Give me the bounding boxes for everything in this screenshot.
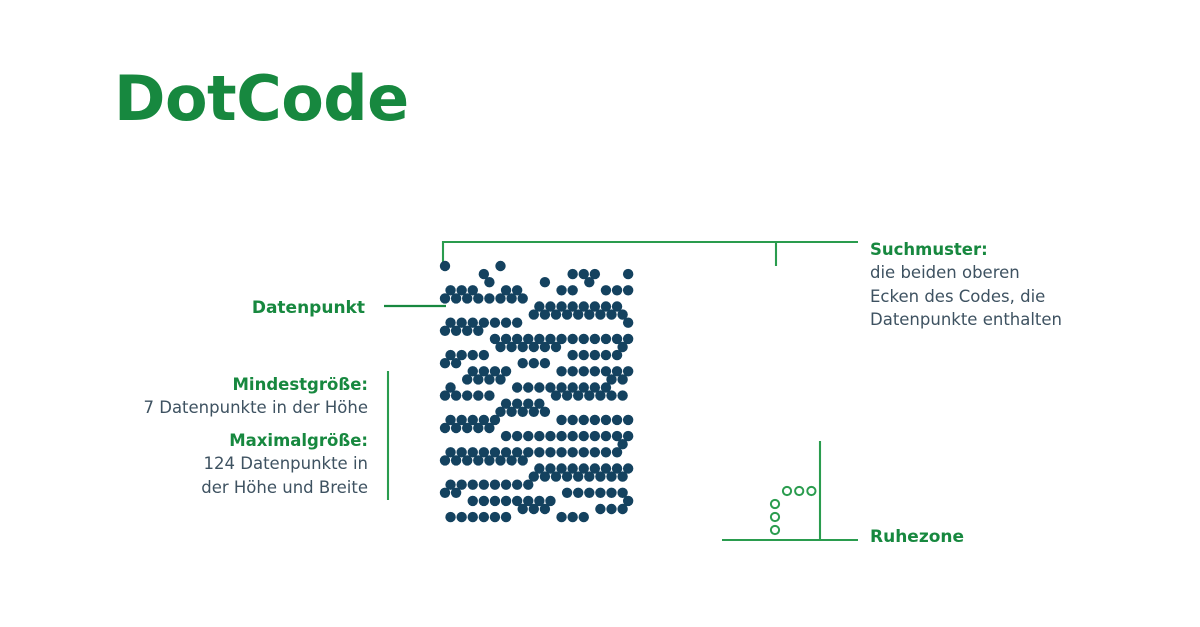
data-dot bbox=[551, 309, 561, 319]
data-dot bbox=[579, 512, 589, 522]
data-dot bbox=[462, 423, 472, 433]
annotation-datenpunkt: Datenpunkt bbox=[60, 296, 365, 320]
data-dot bbox=[501, 512, 511, 522]
annotation-mindestgroesse-heading: Mindestgröße: bbox=[40, 373, 368, 396]
data-dot bbox=[479, 496, 489, 506]
annotation-maximalgroesse-line1: 124 Datenpunkte in bbox=[40, 452, 368, 475]
data-dot bbox=[518, 504, 528, 514]
data-dot bbox=[595, 390, 605, 400]
data-dot bbox=[579, 431, 589, 441]
data-dot bbox=[473, 374, 483, 384]
data-dot bbox=[606, 488, 616, 498]
annotation-maximalgroesse: Maximalgröße: 124 Datenpunkte in der Höh… bbox=[40, 429, 368, 499]
data-dot bbox=[462, 293, 472, 303]
quiet-zone-dot-vertical bbox=[771, 500, 779, 508]
data-dot bbox=[523, 431, 533, 441]
annotation-mindestgroesse-line1: 7 Datenpunkte in der Höhe bbox=[40, 396, 368, 419]
data-dot bbox=[473, 390, 483, 400]
data-dot bbox=[601, 415, 611, 425]
data-dot bbox=[529, 342, 539, 352]
annotation-datenpunkt-heading: Datenpunkt bbox=[60, 296, 365, 320]
data-dot bbox=[501, 318, 511, 328]
data-dot bbox=[490, 512, 500, 522]
data-dot bbox=[606, 504, 616, 514]
data-dot bbox=[612, 285, 622, 295]
data-dot bbox=[451, 390, 461, 400]
data-dot bbox=[540, 407, 550, 417]
data-dot bbox=[579, 447, 589, 457]
data-dot bbox=[579, 366, 589, 376]
data-dot bbox=[479, 480, 489, 490]
data-dot bbox=[451, 488, 461, 498]
data-dot bbox=[567, 366, 577, 376]
quiet-zone-dot-vertical bbox=[771, 513, 779, 521]
data-dot bbox=[518, 358, 528, 368]
data-dot bbox=[567, 269, 577, 279]
data-dot bbox=[606, 390, 616, 400]
data-dot bbox=[540, 277, 550, 287]
suchmuster-leader bbox=[443, 242, 858, 266]
data-dot bbox=[529, 309, 539, 319]
data-dot bbox=[606, 374, 616, 384]
data-dot bbox=[440, 455, 450, 465]
data-dot bbox=[545, 431, 555, 441]
data-dot bbox=[556, 415, 566, 425]
data-dot bbox=[506, 293, 516, 303]
annotation-suchmuster: Suchmuster: die beiden oberen Ecken des … bbox=[870, 238, 1160, 332]
data-dot bbox=[540, 471, 550, 481]
annotation-ruhezone: Ruhezone bbox=[870, 525, 1130, 549]
data-dot bbox=[501, 431, 511, 441]
data-dot bbox=[506, 342, 516, 352]
data-dot bbox=[584, 471, 594, 481]
data-dot bbox=[617, 374, 627, 384]
data-dot bbox=[573, 309, 583, 319]
data-dot bbox=[462, 374, 472, 384]
data-dot bbox=[551, 471, 561, 481]
data-dot bbox=[523, 382, 533, 392]
data-dot bbox=[562, 471, 572, 481]
data-dot bbox=[556, 512, 566, 522]
data-dot bbox=[440, 358, 450, 368]
data-dot bbox=[495, 293, 505, 303]
annotation-suchmuster-line3: Datenpunkte enthalten bbox=[870, 308, 1160, 331]
data-dot bbox=[584, 488, 594, 498]
data-dot bbox=[567, 512, 577, 522]
data-dot bbox=[617, 471, 627, 481]
data-dot bbox=[590, 334, 600, 344]
data-dot bbox=[479, 350, 489, 360]
data-dot bbox=[501, 496, 511, 506]
data-dot bbox=[562, 309, 572, 319]
data-dot bbox=[556, 431, 566, 441]
data-dot bbox=[495, 407, 505, 417]
infographic-canvas: DotCode Suchmuster: die beiden oberen Ec… bbox=[0, 0, 1200, 627]
data-dot bbox=[468, 512, 478, 522]
data-dot bbox=[462, 455, 472, 465]
data-dot bbox=[606, 309, 616, 319]
data-dot bbox=[484, 277, 494, 287]
data-dot bbox=[540, 504, 550, 514]
data-dot bbox=[451, 293, 461, 303]
data-dot bbox=[556, 285, 566, 295]
data-dot bbox=[551, 390, 561, 400]
data-dot bbox=[451, 423, 461, 433]
data-dot bbox=[506, 455, 516, 465]
data-dot bbox=[590, 431, 600, 441]
data-dot bbox=[473, 423, 483, 433]
annotation-ruhezone-heading: Ruhezone bbox=[870, 525, 1130, 549]
data-dot bbox=[567, 431, 577, 441]
data-dot bbox=[518, 293, 528, 303]
data-dot bbox=[490, 496, 500, 506]
data-dot bbox=[534, 431, 544, 441]
data-dot bbox=[440, 488, 450, 498]
data-dot bbox=[512, 382, 522, 392]
data-dot bbox=[445, 512, 455, 522]
annotation-suchmuster-line1: die beiden oberen bbox=[870, 261, 1160, 284]
data-dot bbox=[512, 480, 522, 490]
data-dot bbox=[440, 390, 450, 400]
data-dot bbox=[617, 342, 627, 352]
data-dot-matrix bbox=[440, 261, 634, 523]
data-dot bbox=[529, 407, 539, 417]
quiet-zone-dot-horizontal bbox=[795, 487, 803, 495]
data-dot bbox=[617, 390, 627, 400]
data-dot bbox=[495, 261, 505, 271]
data-dot bbox=[495, 374, 505, 384]
data-dot bbox=[590, 366, 600, 376]
data-dot bbox=[484, 293, 494, 303]
data-dot bbox=[623, 415, 633, 425]
data-dot bbox=[473, 293, 483, 303]
data-dot bbox=[456, 512, 466, 522]
data-dot bbox=[551, 342, 561, 352]
data-dot bbox=[462, 390, 472, 400]
data-dot bbox=[495, 455, 505, 465]
annotation-suchmuster-heading: Suchmuster: bbox=[870, 238, 1160, 261]
data-dot bbox=[479, 512, 489, 522]
data-dot bbox=[468, 496, 478, 506]
data-dot bbox=[545, 447, 555, 457]
quiet-zone-dot-vertical bbox=[771, 526, 779, 534]
data-dot bbox=[617, 504, 627, 514]
data-dot bbox=[534, 382, 544, 392]
data-dot bbox=[590, 447, 600, 457]
data-dot bbox=[440, 423, 450, 433]
data-dot bbox=[579, 334, 589, 344]
data-dot bbox=[440, 326, 450, 336]
data-dot bbox=[567, 350, 577, 360]
data-dot bbox=[556, 447, 566, 457]
data-dot bbox=[534, 447, 544, 457]
data-dot bbox=[529, 504, 539, 514]
data-dot bbox=[490, 318, 500, 328]
quiet-zone-dots bbox=[771, 487, 816, 534]
data-dot bbox=[540, 342, 550, 352]
data-dot bbox=[606, 471, 616, 481]
data-dot bbox=[495, 342, 505, 352]
data-dot bbox=[451, 358, 461, 368]
data-dot bbox=[573, 390, 583, 400]
data-dot bbox=[529, 471, 539, 481]
data-dot bbox=[518, 455, 528, 465]
data-dot bbox=[623, 285, 633, 295]
data-dot bbox=[468, 350, 478, 360]
data-dot bbox=[518, 407, 528, 417]
data-dot bbox=[540, 358, 550, 368]
data-dot bbox=[590, 415, 600, 425]
data-dot bbox=[595, 488, 605, 498]
data-dot bbox=[623, 318, 633, 328]
data-dot bbox=[601, 285, 611, 295]
data-dot bbox=[623, 269, 633, 279]
annotation-suchmuster-line2: Ecken des Codes, die bbox=[870, 285, 1160, 308]
data-dot bbox=[567, 334, 577, 344]
quiet-zone-dot-horizontal bbox=[783, 487, 791, 495]
data-dot bbox=[579, 350, 589, 360]
data-dot bbox=[440, 261, 450, 271]
data-dot bbox=[451, 326, 461, 336]
data-dot bbox=[567, 447, 577, 457]
data-dot bbox=[540, 309, 550, 319]
data-dot bbox=[490, 480, 500, 490]
data-dot bbox=[440, 293, 450, 303]
data-dot bbox=[462, 326, 472, 336]
quiet-zone-dot-horizontal bbox=[807, 487, 815, 495]
data-dot bbox=[484, 374, 494, 384]
data-dot bbox=[595, 504, 605, 514]
data-dot bbox=[584, 277, 594, 287]
data-dot bbox=[601, 334, 611, 344]
data-dot bbox=[601, 350, 611, 360]
data-dot bbox=[512, 318, 522, 328]
ruhezone-leader bbox=[722, 441, 858, 540]
data-dot bbox=[468, 480, 478, 490]
data-dot bbox=[567, 285, 577, 295]
data-dot bbox=[573, 471, 583, 481]
data-dot bbox=[512, 431, 522, 441]
data-dot bbox=[584, 309, 594, 319]
data-dot bbox=[518, 342, 528, 352]
data-dot bbox=[612, 415, 622, 425]
data-dot bbox=[601, 431, 611, 441]
data-dot bbox=[473, 455, 483, 465]
data-dot bbox=[595, 471, 605, 481]
annotation-mindestgroesse: Mindestgröße: 7 Datenpunkte in der Höhe bbox=[40, 373, 368, 420]
data-dot bbox=[567, 415, 577, 425]
data-dot bbox=[451, 455, 461, 465]
data-dot bbox=[562, 390, 572, 400]
annotation-maximalgroesse-heading: Maximalgröße: bbox=[40, 429, 368, 452]
data-dot bbox=[601, 447, 611, 457]
data-dot bbox=[562, 488, 572, 498]
data-dot bbox=[617, 439, 627, 449]
data-dot bbox=[473, 326, 483, 336]
data-dot bbox=[501, 480, 511, 490]
data-dot bbox=[556, 366, 566, 376]
data-dot bbox=[573, 488, 583, 498]
data-dot bbox=[484, 455, 494, 465]
data-dot bbox=[584, 390, 594, 400]
data-dot bbox=[484, 390, 494, 400]
data-dot bbox=[590, 350, 600, 360]
data-dot bbox=[595, 309, 605, 319]
data-dot bbox=[506, 407, 516, 417]
data-dot bbox=[579, 415, 589, 425]
data-dot bbox=[484, 423, 494, 433]
annotation-maximalgroesse-line2: der Höhe und Breite bbox=[40, 476, 368, 499]
data-dot bbox=[529, 358, 539, 368]
